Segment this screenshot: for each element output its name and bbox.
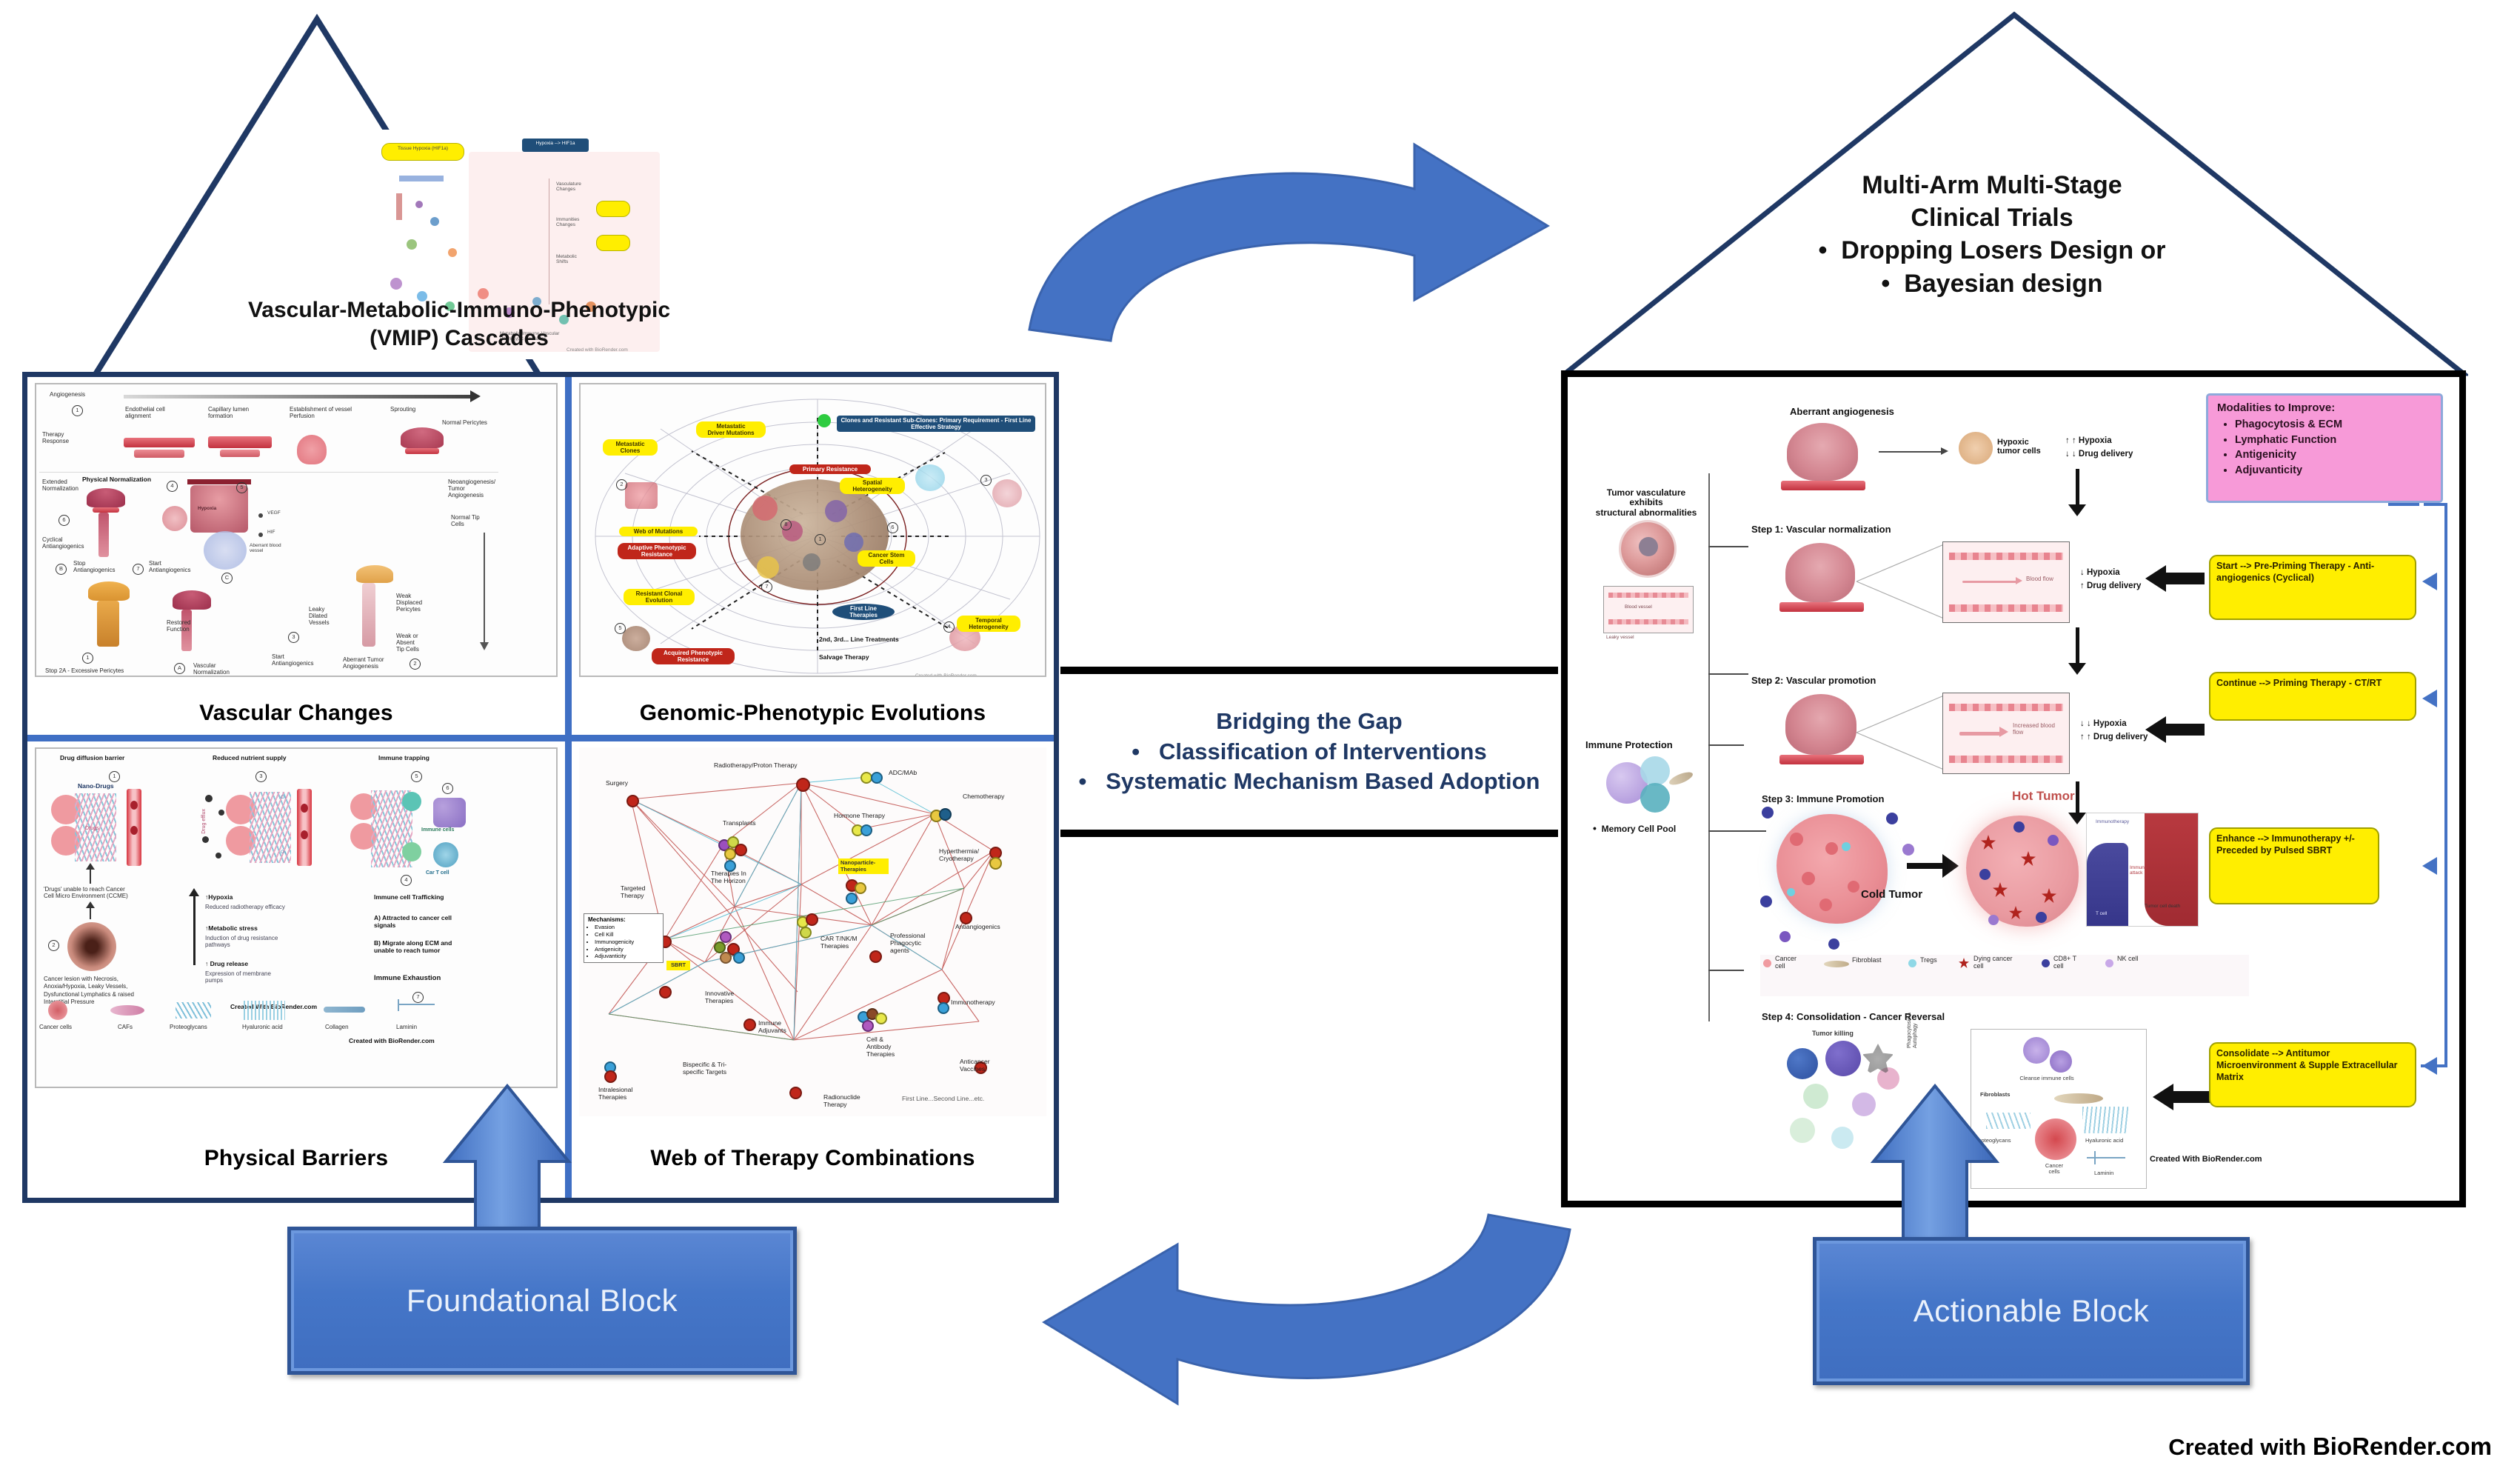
aberrant-vessel-art [1787, 423, 1858, 481]
quadrant-label-vascular-changes: Vascular Changes [27, 701, 565, 726]
modality-item: Antigenicity [2235, 447, 2433, 463]
left-pediment-title-line2: (VMIP) Cascades [178, 324, 741, 353]
aberrant-angiogenesis-label: Aberrant angiogenesis [1790, 407, 1894, 418]
immune-protection-label: Immune Protection [1585, 740, 1673, 751]
step-1-title: Step 1: Vascular normalization [1751, 524, 1891, 535]
physical-barriers-legend: Cancer cells CAFs Proteoglycans Hyaluron… [38, 999, 555, 1044]
mechanisms-box: Mechanisms: Evasion Cell Kill Immunogeni… [584, 913, 664, 963]
step-2-title: Step 2: Vascular promotion [1751, 675, 1876, 686]
immune-attack-inset: Immunotherapy Immune attack Tumor cell d… [2086, 813, 2199, 927]
step1-inset: Blood flow [1942, 541, 2070, 623]
memory-cell-pool-label: • Memory Cell Pool [1593, 823, 1676, 835]
step2-inset: Increased blood flow [1942, 693, 2070, 774]
actionable-block-panel: Tumor vasculature exhibitsstructural abn… [1561, 370, 2466, 1207]
callout-immunotherapy: Enhance --> Immunotherapy +/- Preceded b… [2209, 827, 2379, 904]
bridge-bullet-2: Systematic Mechanism Based Adoption [1079, 767, 1540, 797]
actionable-block-label: Actionable Block [1914, 1293, 2150, 1329]
modality-item: Lymphatic Function [2235, 433, 2433, 448]
modalities-title: Modalities to Improve: [2217, 401, 2433, 414]
blood-vessel-inset: Blood vessel [1603, 586, 1694, 633]
right-pediment-title-line2: Clinical Trials [1725, 201, 2259, 234]
quadrant-genomic-phenotypic-evolutions[interactable]: 3 2 5 4 8 1 6 7 Clones and Resistant Sub… [572, 377, 1054, 741]
quadrant-vascular-changes[interactable]: Angiogenesis Endothelial cellalignment C… [27, 377, 572, 741]
vascular-changes-artwork: Angiogenesis Endothelial cellalignment C… [35, 383, 558, 677]
genomic-phenotypic-artwork: 3 2 5 4 8 1 6 7 Clones and Resistant Sub… [579, 383, 1046, 677]
counterclockwise-cycle-arrow-bottom [985, 1185, 1600, 1430]
right-pediment-bullet-2: Bayesian design [1725, 267, 2259, 300]
cell-type-legend: Cancer cell Fibroblast Tregs Dying cance… [1760, 955, 2249, 996]
right-pediment-title-line1: Multi-Arm Multi-Stage [1725, 169, 2259, 201]
cold-tumor-art [1777, 814, 1888, 924]
bridge-title: Bridging the Gap [1216, 707, 1402, 737]
foundational-block-panel: Angiogenesis Endothelial cellalignment C… [22, 372, 1059, 1203]
biorender-credit-right-panel: Created With BioRender.com [2150, 1155, 2262, 1164]
modalities-to-improve-box: Modalities to Improve: Phagocytosis & EC… [2206, 393, 2443, 503]
sbrt-tag: SBRT [666, 961, 690, 970]
bridge-bullet-1: Classification of Interventions [1132, 737, 1486, 767]
modality-item: Adjuvanticity [2235, 463, 2433, 479]
genomic-banner: Clones and Resistant Sub-Clones: Primary… [837, 416, 1035, 432]
left-pediment-title: Vascular-Metabolic-Immuno-Phenotypic (VM… [178, 296, 741, 352]
foundational-block-label: Foundational Block [407, 1283, 678, 1318]
actionable-block-button[interactable]: Actionable Block [1813, 1237, 2250, 1385]
biorender-credit: Created with BioRender.com [2168, 1433, 2492, 1461]
right-pediment-bullet-1: Dropping Losers Design or [1725, 234, 2259, 267]
quadrant-label-web-of-therapy-combinations: Web of Therapy Combinations [572, 1146, 1054, 1171]
tumor-vasculature-label: Tumor vasculature exhibitsstructural abn… [1594, 488, 1698, 518]
quadrant-label-genomic-phenotypic-evolutions: Genomic-Phenotypic Evolutions [572, 701, 1054, 726]
quadrant-web-of-therapy-combinations[interactable]: Surgery Radiotherapy/Proton Therapy ADC/… [572, 741, 1054, 1198]
left-pediment-title-line1: Vascular-Metabolic-Immuno-Phenotypic [178, 296, 741, 324]
hot-tumor-label: Hot Tumor [2012, 789, 2075, 804]
right-pediment-title: Multi-Arm Multi-Stage Clinical Trials Dr… [1725, 169, 2259, 300]
cold-tumor-label: Cold Tumor [1861, 888, 1922, 901]
hypoxic-tumor-cells-label: Hypoxic tumor cells [1997, 438, 2049, 456]
step-3-title: Step 3: Immune Promotion [1762, 793, 1884, 804]
foundational-block-button[interactable]: Foundational Block [287, 1227, 797, 1375]
clockwise-cycle-arrow-top [1000, 115, 1607, 367]
nanoparticle-therapies-tag: Nanoparticle-Therapies [838, 858, 889, 874]
bridging-the-gap-box: Bridging the Gap Classification of Inter… [1060, 667, 1558, 837]
modality-item: Phagocytosis & ECM [2235, 417, 2433, 433]
therapy-web-artwork: Surgery Radiotherapy/Proton Therapy ADC/… [579, 747, 1046, 1116]
